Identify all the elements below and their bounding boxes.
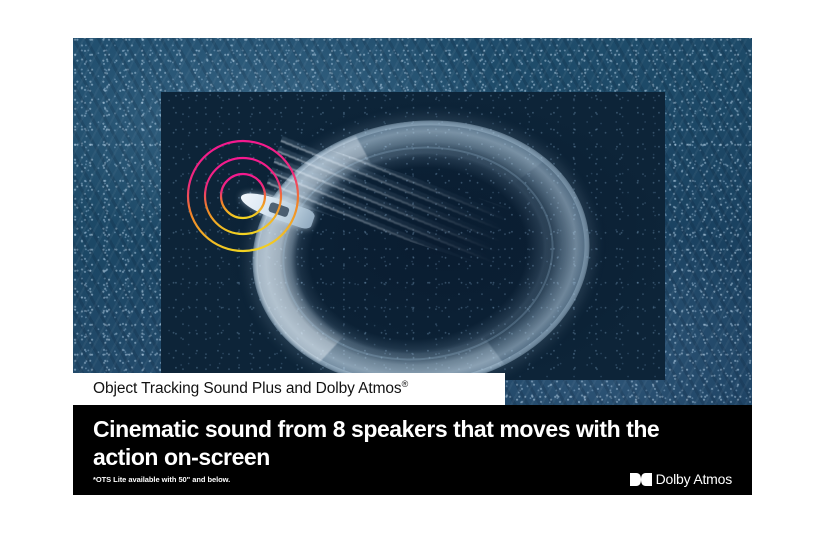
caption-band: Object Tracking Sound Plus and Dolby Atm… bbox=[73, 373, 505, 405]
caption-label: Object Tracking Sound Plus and Dolby Atm… bbox=[73, 379, 408, 398]
dolby-atmos-wordmark: Dolby Atmos bbox=[656, 472, 732, 486]
headline-band: Cinematic sound from 8 speakers that mov… bbox=[73, 405, 752, 495]
feature-card: Object Tracking Sound Plus and Dolby Atm… bbox=[73, 38, 752, 495]
registered-trademark-symbol: ® bbox=[402, 379, 409, 389]
dolby-atmos-logo: Dolby Atmos bbox=[630, 472, 732, 486]
tv-screen-panel bbox=[161, 92, 665, 380]
headline-text: Cinematic sound from 8 speakers that mov… bbox=[93, 415, 693, 471]
dolby-double-d-mark bbox=[630, 473, 652, 486]
footnote-text: *OTS Lite available with 50" and below. bbox=[93, 475, 230, 484]
caption-label-text: Object Tracking Sound Plus and Dolby Atm… bbox=[93, 381, 402, 398]
